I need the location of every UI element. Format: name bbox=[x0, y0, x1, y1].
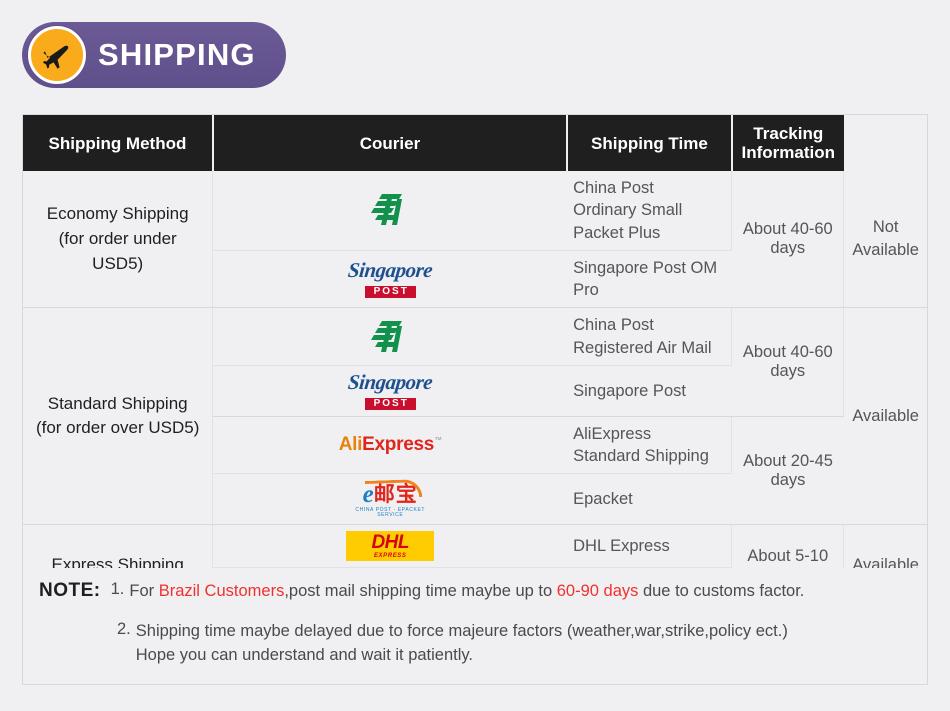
courier-name: Epacket bbox=[567, 474, 732, 525]
header-courier: Courier bbox=[213, 115, 567, 171]
method-title: Economy Shipping bbox=[31, 202, 204, 227]
courier-name: China Post Ordinary Small Packet Plus bbox=[567, 171, 732, 250]
singpost-box: POST bbox=[365, 286, 416, 298]
shipping-banner: SHIPPING bbox=[22, 22, 286, 88]
note-number: 1. bbox=[111, 580, 125, 599]
header-shipping-method: Shipping Method bbox=[23, 115, 213, 171]
highlight-brazil-customers: Brazil Customers bbox=[159, 582, 285, 600]
aliexpress-express: Express bbox=[362, 434, 434, 455]
note-text-2: Shipping time maybe delayed due to force… bbox=[136, 620, 788, 668]
tracking-status: Available bbox=[844, 308, 927, 525]
table-row: Standard Shipping (for order over USD5) bbox=[23, 308, 927, 366]
shipping-time-value: About 20-45 days bbox=[732, 416, 844, 525]
method-standard-shipping: Standard Shipping (for order over USD5) bbox=[23, 308, 213, 525]
note-section: NOTE: 1. For Brazil Customers,post mail … bbox=[22, 568, 928, 685]
header-shipping-time: Shipping Time bbox=[567, 115, 732, 171]
method-economy-shipping: Economy Shipping (for order under USD5) bbox=[23, 171, 213, 308]
china-post-logo bbox=[213, 171, 567, 250]
epacket-arc-icon bbox=[364, 479, 422, 499]
method-subtitle: (for order over USD5) bbox=[31, 416, 204, 441]
singapore-post-logo: Singapore POST bbox=[213, 250, 567, 308]
shipping-table: Shipping Method Courier Shipping Time Tr… bbox=[22, 114, 928, 608]
singpost-script: Singapore bbox=[347, 260, 433, 281]
singpost-script: Singapore bbox=[347, 372, 433, 393]
dhl-text: DHL bbox=[371, 533, 409, 552]
trademark-icon: ™ bbox=[434, 436, 442, 445]
courier-name: AliExpress Standard Shipping bbox=[567, 416, 732, 474]
note-text-1: For Brazil Customers,post mail shipping … bbox=[129, 580, 804, 604]
note-text-2-line-1: Shipping time maybe delayed due to force… bbox=[136, 620, 788, 644]
courier-name: Singapore Post OM Pro bbox=[567, 250, 732, 308]
dhl-logo: DHL EXPRESS bbox=[213, 525, 567, 568]
courier-name: Singapore Post bbox=[567, 365, 732, 416]
banner-pill: SHIPPING bbox=[22, 22, 286, 88]
header-tracking-information: Tracking Information bbox=[732, 115, 844, 171]
courier-name: China Post Registered Air Mail bbox=[567, 308, 732, 366]
epacket-logo: e邮宝 CHINA POST · EPACKET SERVICE bbox=[213, 474, 567, 525]
table-row: Express Shipping DHL EXPRESS DHL Express… bbox=[23, 525, 927, 568]
method-title: Standard Shipping bbox=[31, 392, 204, 417]
banner-title: SHIPPING bbox=[98, 37, 256, 73]
tracking-status: Not Available bbox=[844, 171, 927, 308]
note-label: NOTE: bbox=[39, 580, 101, 602]
note-text-2-line-2: Hope you can understand and wait it pati… bbox=[136, 644, 788, 668]
shipping-time-value: About 40-60 days bbox=[732, 171, 844, 308]
note-item-1: NOTE: 1. For Brazil Customers,post mail … bbox=[39, 580, 911, 604]
courier-name: DHL Express bbox=[567, 525, 732, 568]
aliexpress-ali: Ali bbox=[339, 434, 362, 455]
method-subtitle: (for order under USD5) bbox=[31, 227, 204, 276]
table-header-row: Shipping Method Courier Shipping Time Tr… bbox=[23, 115, 927, 171]
aliexpress-logo: AliExpress™ bbox=[213, 416, 567, 474]
china-post-logo bbox=[213, 308, 567, 366]
singapore-post-logo: Singapore POST bbox=[213, 365, 567, 416]
shipping-info-page: SHIPPING Shipping Method Courier Shippin… bbox=[0, 0, 950, 711]
epacket-subtext: CHINA POST · EPACKET SERVICE bbox=[344, 508, 436, 518]
singpost-box: POST bbox=[365, 398, 416, 410]
shipping-time-value: About 40-60 days bbox=[732, 308, 844, 417]
table-row: Economy Shipping (for order under USD5) bbox=[23, 171, 927, 250]
dhl-subtext: EXPRESS bbox=[374, 553, 407, 559]
note-number: 2. bbox=[117, 620, 131, 639]
highlight-delay-days: 60-90 days bbox=[557, 582, 639, 600]
note-item-2: 2. Shipping time maybe delayed due to fo… bbox=[39, 620, 911, 668]
airplane-icon bbox=[28, 26, 86, 84]
